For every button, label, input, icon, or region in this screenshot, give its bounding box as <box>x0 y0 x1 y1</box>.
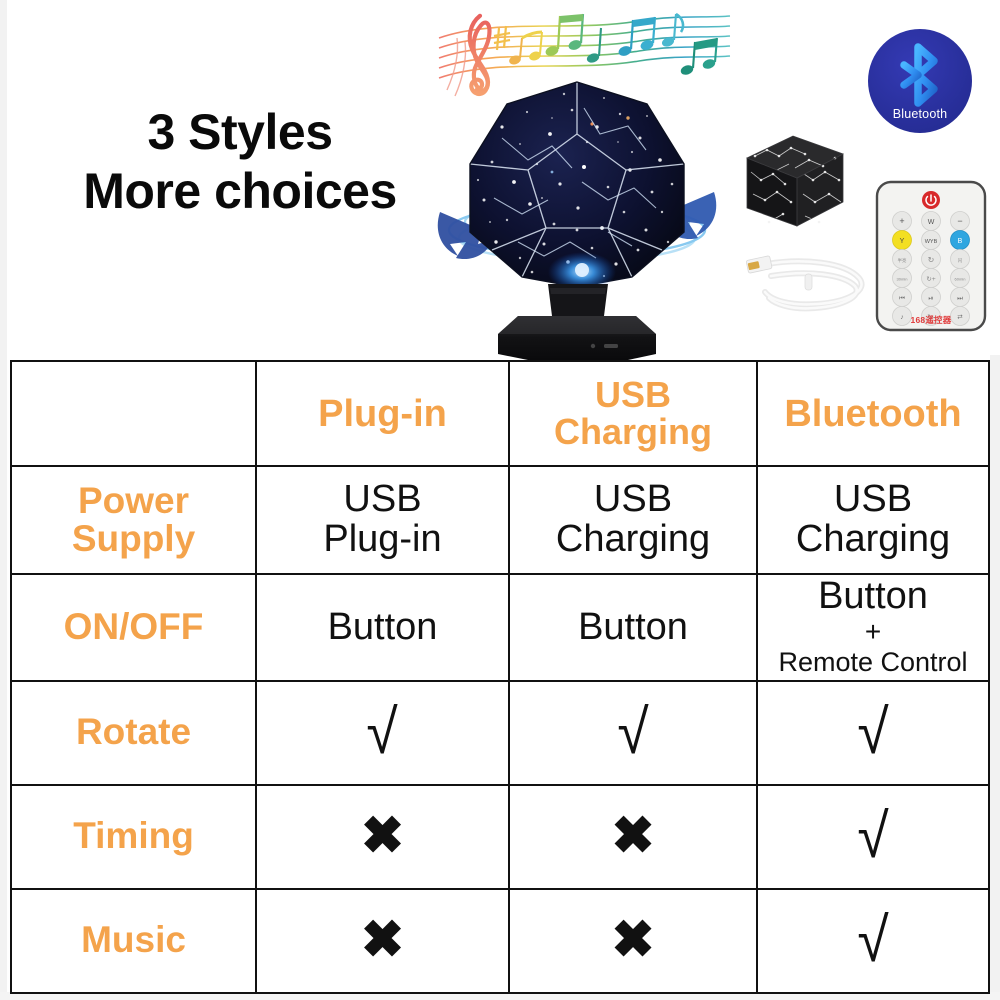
usb-connector <box>746 256 772 274</box>
note-group <box>508 14 717 76</box>
check-icon: √ <box>617 705 648 761</box>
header-usb-line2: Charging <box>554 411 712 452</box>
svg-text:W: W <box>928 219 935 226</box>
header-usb-line1: USB <box>595 374 671 415</box>
headline-line-1: 3 Styles <box>40 103 440 162</box>
svg-text:60min: 60min <box>955 277 966 282</box>
cross-icon: ✖ <box>361 813 405 860</box>
check-icon: √ <box>367 705 398 761</box>
row-label-text: Rotate <box>16 713 251 752</box>
cell-music-usb: ✖ <box>509 889 757 993</box>
remote-control-body: + W − Y WYB B 半亮 ↻ <box>873 180 989 332</box>
cell-rotate-bluetooth: √ <box>757 681 989 785</box>
cell-line2: Charging <box>556 518 710 560</box>
bluetooth-badge-label: Bluetooth <box>866 107 974 121</box>
row-label-text: Timing <box>16 817 251 856</box>
svg-text:WYB: WYB <box>925 239 938 245</box>
cell-power-usb: USB Charging <box>509 466 757 574</box>
row-label-onoff: ON/OFF <box>11 574 256 681</box>
check-icon: √ <box>857 809 888 865</box>
cell-line2: Charging <box>796 518 950 560</box>
table-row: Rotate √ √ √ <box>11 681 989 785</box>
cell-line2: Remote Control <box>762 647 984 677</box>
remote-control: + W − Y WYB B 半亮 ↻ <box>873 180 989 332</box>
cell-onoff-plugin: Button <box>256 574 509 681</box>
svg-text:Y: Y <box>900 238 905 245</box>
cross-icon: ✖ <box>611 917 655 964</box>
cell-line1: USB <box>343 478 421 520</box>
cell-timing-bluetooth: √ <box>757 785 989 889</box>
page-right-margin <box>990 355 1000 1000</box>
row-label-power-supply: Power Supply <box>11 466 256 574</box>
row-label-timing: Timing <box>11 785 256 889</box>
row-label-text: Music <box>16 921 251 960</box>
svg-text:半亮: 半亮 <box>898 257 907 264</box>
cell-onoff-usb: Button <box>509 574 757 681</box>
cell-line2: Plug-in <box>323 518 441 560</box>
table-row: ON/OFF Button Button Button + Remote Con… <box>11 574 989 681</box>
cross-icon: ✖ <box>361 917 405 964</box>
cell-timing-usb: ✖ <box>509 785 757 889</box>
check-icon: √ <box>857 705 888 761</box>
remote-model-label: 168遥控器 <box>873 314 989 326</box>
row-label-rotate: Rotate <box>11 681 256 785</box>
cell-rotate-usb: √ <box>509 681 757 785</box>
page-title: 3 Styles More choices <box>40 103 440 221</box>
usb-cable <box>745 246 875 321</box>
bluetooth-badge: Bluetooth <box>866 27 974 135</box>
header-cell-usb-charging: USB Charging <box>509 361 757 466</box>
table-row: Music ✖ ✖ √ <box>11 889 989 993</box>
svg-text:闪: 闪 <box>958 257 963 263</box>
cell-plus: + <box>762 617 984 648</box>
table-row: Timing ✖ ✖ √ <box>11 785 989 889</box>
svg-text:↻+: ↻+ <box>926 276 935 283</box>
table-row: Power Supply USB Plug-in USB Charg <box>11 466 989 574</box>
headline-line-2: More choices <box>40 162 440 221</box>
cell-power-plugin: USB Plug-in <box>256 466 509 574</box>
row-label-line1: Power <box>78 480 189 521</box>
cell-rotate-plugin: √ <box>256 681 509 785</box>
hero-section: 3 Styles More choices <box>0 0 1000 358</box>
svg-text:⏭: ⏭ <box>957 295 963 302</box>
header-cell-blank <box>11 361 256 466</box>
header-bluetooth-label: Bluetooth <box>762 395 984 433</box>
row-label-music: Music <box>11 889 256 993</box>
header-plugin-label: Plug-in <box>261 395 504 433</box>
cross-icon: ✖ <box>611 813 655 860</box>
svg-text:B: B <box>958 238 963 245</box>
row-label-line2: Supply <box>72 518 195 559</box>
svg-text:30min: 30min <box>897 277 908 282</box>
cell-power-bluetooth: USB Charging <box>757 466 989 574</box>
cell-line1: USB <box>594 478 672 520</box>
svg-text:−: − <box>957 216 962 226</box>
header-cell-bluetooth: Bluetooth <box>757 361 989 466</box>
svg-text:↻: ↻ <box>928 256 935 265</box>
svg-text:⏮: ⏮ <box>899 295 905 302</box>
cell-line1: Button <box>818 575 928 617</box>
cell-music-bluetooth: √ <box>757 889 989 993</box>
comparison-table-wrapper: Plug-in USB Charging Bluetooth <box>10 360 988 989</box>
cell-timing-plugin: ✖ <box>256 785 509 889</box>
constellation-gift-box <box>735 128 850 233</box>
svg-text:+: + <box>899 216 904 226</box>
check-icon: √ <box>857 913 888 969</box>
star-projector-lamp <box>432 72 722 360</box>
cell-music-plugin: ✖ <box>256 889 509 993</box>
cell-text: Button <box>261 608 504 648</box>
svg-text:⏯: ⏯ <box>928 295 933 302</box>
table-header-row: Plug-in USB Charging Bluetooth <box>11 361 989 466</box>
header-cell-plugin: Plug-in <box>256 361 509 466</box>
comparison-table: Plug-in USB Charging Bluetooth <box>10 360 990 994</box>
cell-onoff-bluetooth: Button + Remote Control <box>757 574 989 681</box>
product-comparison-page: 3 Styles More choices <box>0 0 1000 1000</box>
cell-line1: USB <box>834 478 912 520</box>
cell-text: Button <box>514 608 752 648</box>
row-label-text: ON/OFF <box>16 608 251 647</box>
